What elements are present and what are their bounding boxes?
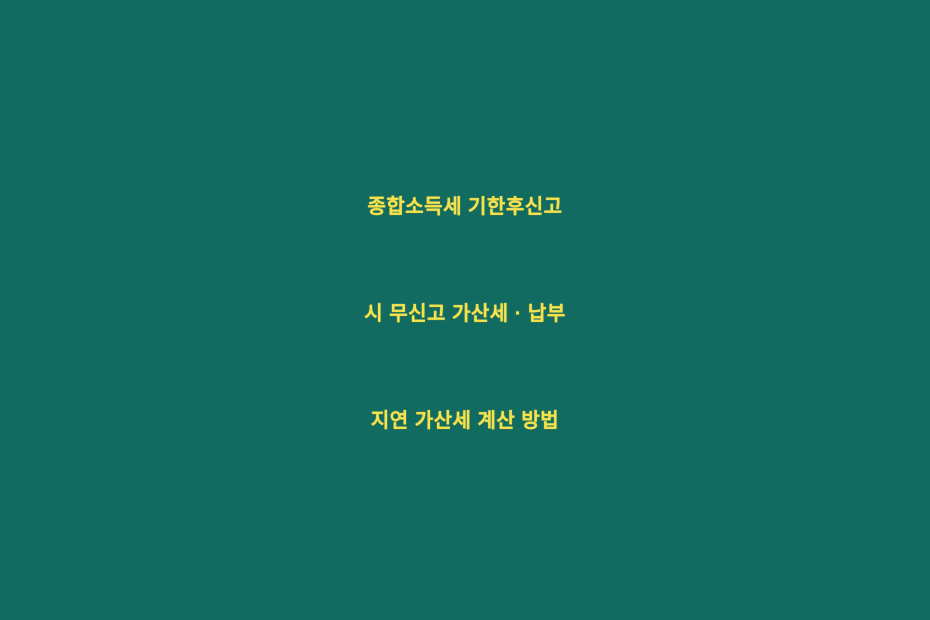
headline-line-2: 시 무신고 가산세 · 납부 — [40, 261, 890, 368]
headline-line-3: 지연 가산세 계산 방법 — [40, 368, 890, 475]
headline-block: 종합소득세 기한후신고 시 무신고 가산세 · 납부 지연 가산세 계산 방법 — [0, 154, 930, 475]
headline-line-1: 종합소득세 기한후신고 — [40, 154, 890, 261]
title-banner: 종합소득세 기한후신고 시 무신고 가산세 · 납부 지연 가산세 계산 방법 — [0, 0, 930, 620]
